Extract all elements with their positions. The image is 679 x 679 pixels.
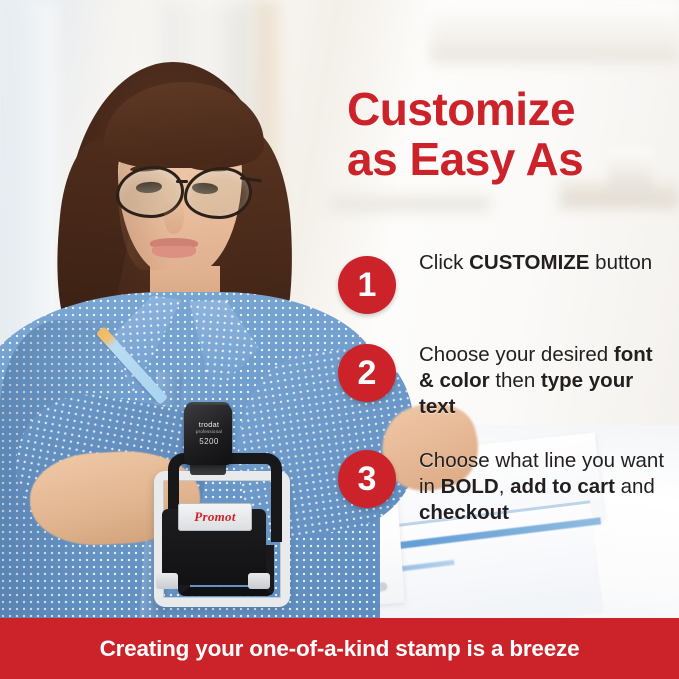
headline-line-1: Customize xyxy=(347,84,667,134)
background-shelf-top xyxy=(430,0,679,62)
steps-list: 1 Click CUSTOMIZE button 2 Choose your d… xyxy=(338,252,668,550)
step-number-badge: 1 xyxy=(338,256,396,314)
stamp-handle xyxy=(184,405,232,465)
banner-text: Creating your one-of-a-kind stamp is a b… xyxy=(100,636,580,662)
step-number-badge: 2 xyxy=(338,344,396,402)
nose xyxy=(164,200,184,234)
stamp-plate-text: Promot xyxy=(180,509,250,525)
stamp-model-label: 5200 xyxy=(190,437,228,446)
lip-lower xyxy=(152,246,196,258)
step-number-badge: 3 xyxy=(338,450,396,508)
bottom-banner: Creating your one-of-a-kind stamp is a b… xyxy=(0,618,679,679)
stamp-base-right xyxy=(248,573,270,589)
list-item: 2 Choose your desired font & color then … xyxy=(338,344,668,420)
stamp-brand-label: trodat xyxy=(190,420,228,429)
step-description: Choose your desired font & color then ty… xyxy=(419,342,668,420)
stamp-series-label: professional xyxy=(190,429,228,434)
stamp-base-left xyxy=(156,573,178,589)
glasses-bridge xyxy=(176,180,188,183)
list-item: 3 Choose what line you want in BOLD, add… xyxy=(338,450,668,526)
list-item: 1 Click CUSTOMIZE button xyxy=(338,252,668,314)
step-description: Choose what line you want in BOLD, add t… xyxy=(419,448,668,526)
self-inking-stamp: Promot trodat professional 5200 xyxy=(150,405,280,590)
promo-graphic: Promot trodat professional 5200 Customiz… xyxy=(0,0,679,679)
glasses-lens-right xyxy=(184,167,252,219)
headline-line-2: as Easy As xyxy=(347,134,667,184)
page-title: Customize as Easy As xyxy=(347,84,667,184)
step-description: Click CUSTOMIZE button xyxy=(419,250,652,276)
